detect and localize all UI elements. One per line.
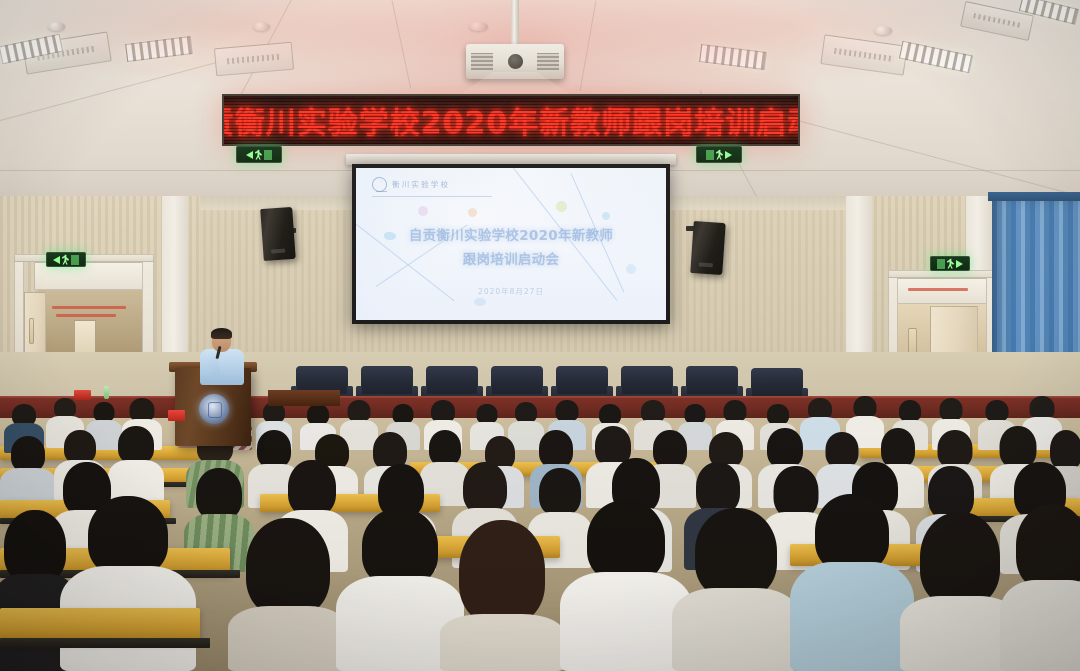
person-hair [429, 430, 461, 466]
desk-row-foreground [0, 608, 200, 642]
person-torso [672, 588, 800, 671]
person-hair [767, 404, 789, 425]
projector-vent-left [471, 53, 493, 70]
school-logo-icon [372, 177, 387, 192]
person-hair [539, 430, 573, 468]
slide-deco-dot [468, 208, 477, 217]
ceiling-projector [466, 44, 564, 79]
person-hair [54, 398, 76, 418]
exit-door-icon [937, 259, 945, 269]
person-hair [246, 518, 330, 616]
running-man-icon [716, 150, 723, 160]
presenter-speaker [196, 330, 246, 382]
running-man-icon [255, 150, 262, 160]
running-man-icon [947, 259, 954, 269]
person-hair [767, 428, 803, 468]
person-hair [940, 398, 963, 421]
door-window-left [29, 318, 34, 344]
person-hair [515, 402, 537, 423]
person-hair [815, 494, 889, 572]
person-torso [790, 562, 914, 671]
slide-deco-dot [474, 298, 486, 306]
chair-back [361, 366, 413, 396]
audience-person [672, 508, 800, 671]
person-hair [986, 400, 1009, 422]
exit-arrow-right-icon [725, 151, 732, 159]
slide-deco-dot [556, 201, 567, 212]
exit-sign-right-door [930, 256, 970, 271]
podium-red-label [168, 410, 185, 421]
person-hair [348, 400, 371, 422]
exit-door-icon [71, 255, 79, 265]
exit-arrow-left-icon [53, 256, 60, 264]
person-hair [1016, 504, 1080, 590]
corridor-red-banner-right [908, 288, 968, 291]
person-hair [118, 426, 154, 464]
person-hair [695, 508, 777, 598]
person-hair [556, 400, 579, 422]
water-bottle [104, 386, 109, 399]
person-hair [724, 400, 747, 422]
exit-door-icon [264, 150, 272, 160]
chair-back [621, 366, 673, 396]
exit-sign-left-banner [236, 146, 282, 163]
person-hair [393, 404, 414, 424]
person-hair [4, 510, 66, 584]
projection-screen-surface: 衡川实验学校 自贡衡川实验学校2020年新教师 跟岗培训启动会 2020年8月2… [356, 168, 666, 320]
person-hair [477, 404, 498, 424]
person-hair [696, 462, 740, 514]
projector-mount-pole [511, 0, 519, 46]
slide-deco-dot [602, 212, 610, 220]
person-torso [440, 614, 564, 671]
stage-red-box [74, 390, 91, 400]
presenter-hair [211, 328, 232, 339]
person-hair [899, 400, 921, 422]
led-banner: 自贡衡川实验学校2020年新教师跟岗培训启动会 [222, 94, 800, 146]
projector-vent-right [537, 53, 559, 70]
desk-trim-foreground [0, 638, 210, 648]
person-hair [307, 404, 329, 425]
wall-speaker-left [260, 207, 296, 261]
slide-school-logo: 衡川实验学校 [372, 177, 450, 192]
exit-arrow-left-icon [246, 151, 253, 159]
slide-title-line1: 自贡衡川实验学校2020年新教师 [356, 224, 666, 248]
slide-logo-text: 衡川实验学校 [392, 179, 450, 190]
person-hair [196, 468, 242, 520]
running-man-icon [62, 255, 69, 265]
chair-back [491, 366, 543, 396]
exit-sign-right-banner [696, 146, 742, 163]
person-hair [854, 396, 877, 418]
slide-title: 自贡衡川实验学校2020年新教师 跟岗培训启动会 [356, 224, 666, 272]
slide-title-line2: 跟岗培训启动会 [356, 248, 666, 272]
corridor-red-banner [52, 306, 126, 309]
exit-door-icon [706, 150, 714, 160]
door-frame-right-head [888, 270, 996, 278]
chair-back [686, 366, 738, 396]
door-window-right [908, 328, 917, 354]
exit-sign-left-door [46, 252, 86, 267]
person-hair [938, 430, 973, 468]
projection-screen: 衡川实验学校 自贡衡川实验学校2020年新教师 跟岗培训启动会 2020年8月2… [352, 164, 670, 324]
person-hair [11, 436, 45, 472]
audience-person [440, 520, 564, 671]
person-hair [94, 402, 115, 422]
person-hair [587, 500, 665, 582]
slide-logo-rule [372, 196, 492, 197]
slide-subtitle: 2020年8月27日 [356, 286, 666, 297]
audience-person [1000, 504, 1080, 671]
person-hair [288, 460, 336, 516]
person-hair [459, 520, 545, 624]
exit-arrow-right-icon [956, 260, 963, 268]
person-hair [685, 404, 706, 424]
person-hair [64, 430, 96, 464]
curtain-rail-right [988, 192, 1080, 201]
audience-person [228, 518, 348, 671]
presenter-torso [200, 349, 244, 385]
led-banner-text: 自贡衡川实验学校2020年新教师跟岗培训启动会 [222, 98, 800, 142]
door-transom-right [896, 278, 988, 304]
person-hair [920, 512, 1000, 606]
stage-side-table [268, 390, 340, 406]
chair-back [426, 366, 478, 396]
projector-lens-icon [508, 54, 523, 69]
chair-back [751, 368, 803, 398]
podium-school-emblem-icon [199, 394, 229, 424]
person-hair [362, 508, 438, 586]
person-hair [88, 496, 168, 576]
wall-speaker-right [690, 221, 726, 275]
person-torso [1000, 580, 1080, 671]
person-hair [599, 404, 621, 425]
lecture-hall-photo: 自贡衡川实验学校2020年新教师跟岗培训启动会 衡川实验学校 [0, 0, 1080, 671]
corridor-red-banner [56, 314, 116, 317]
person-torso [228, 606, 348, 671]
chair-back [556, 366, 608, 396]
audience-person [0, 436, 56, 508]
audience-person [790, 494, 914, 671]
person-hair [463, 462, 507, 514]
slide-deco-dot [418, 206, 428, 216]
